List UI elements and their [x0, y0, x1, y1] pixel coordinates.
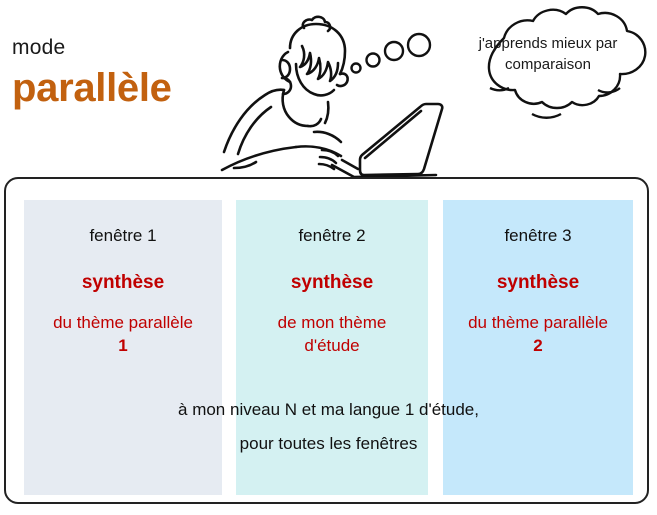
window-detail-3-line-2: 2 [533, 336, 542, 355]
page-title: parallèle [12, 66, 172, 111]
window-label-1: fenêtre 1 [24, 226, 222, 246]
window-detail-2-line-2: d'étude [304, 336, 359, 355]
window-detail-1: du thème parallèle 1 [24, 311, 222, 357]
window-column-3[interactable]: fenêtre 3 synthèse du thème parallèle 2 [443, 200, 633, 495]
parallel-mode-panel: fenêtre 1 synthèse du thème parallèle 1 … [4, 177, 649, 504]
window-column-3-content: fenêtre 3 synthèse du thème parallèle 2 [443, 200, 633, 357]
header-area: mode parallèle [0, 0, 657, 177]
window-detail-1-line-1: du thème parallèle [53, 313, 193, 332]
window-column-1[interactable]: fenêtre 1 synthèse du thème parallèle 1 [24, 200, 222, 495]
thought-text-line-2: mieux par [552, 35, 618, 52]
window-detail-3: du thème parallèle 2 [443, 311, 633, 357]
thought-cloud-text: j'apprends mieux par comparaison [468, 33, 628, 75]
window-label-2: fenêtre 2 [236, 226, 428, 246]
synthese-label-2: synthèse [236, 272, 428, 294]
window-detail-1-line-2: 1 [118, 336, 127, 355]
thought-cloud-icon [440, 2, 657, 157]
window-detail-2: de mon thème d'étude [236, 311, 428, 357]
window-label-3: fenêtre 3 [443, 226, 633, 246]
thought-bubble-dots-icon [349, 26, 449, 76]
window-detail-2-line-1: de mon thème [278, 313, 387, 332]
window-column-1-content: fenêtre 1 synthèse du thème parallèle 1 [24, 200, 222, 357]
thought-text-line-3: comparaison [505, 56, 591, 73]
mode-label: mode [12, 36, 65, 60]
synthese-label-1: synthèse [24, 272, 222, 294]
synthese-label-3: synthèse [443, 272, 633, 294]
window-detail-3-line-1: du thème parallèle [468, 313, 608, 332]
window-column-2-content: fenêtre 2 synthèse de mon thème d'étude [236, 200, 428, 357]
thought-text-line-1: j'apprends [479, 35, 548, 52]
window-column-2[interactable]: fenêtre 2 synthèse de mon thème d'étude [236, 200, 428, 495]
windows-container: fenêtre 1 synthèse du thème parallèle 1 … [6, 179, 651, 506]
